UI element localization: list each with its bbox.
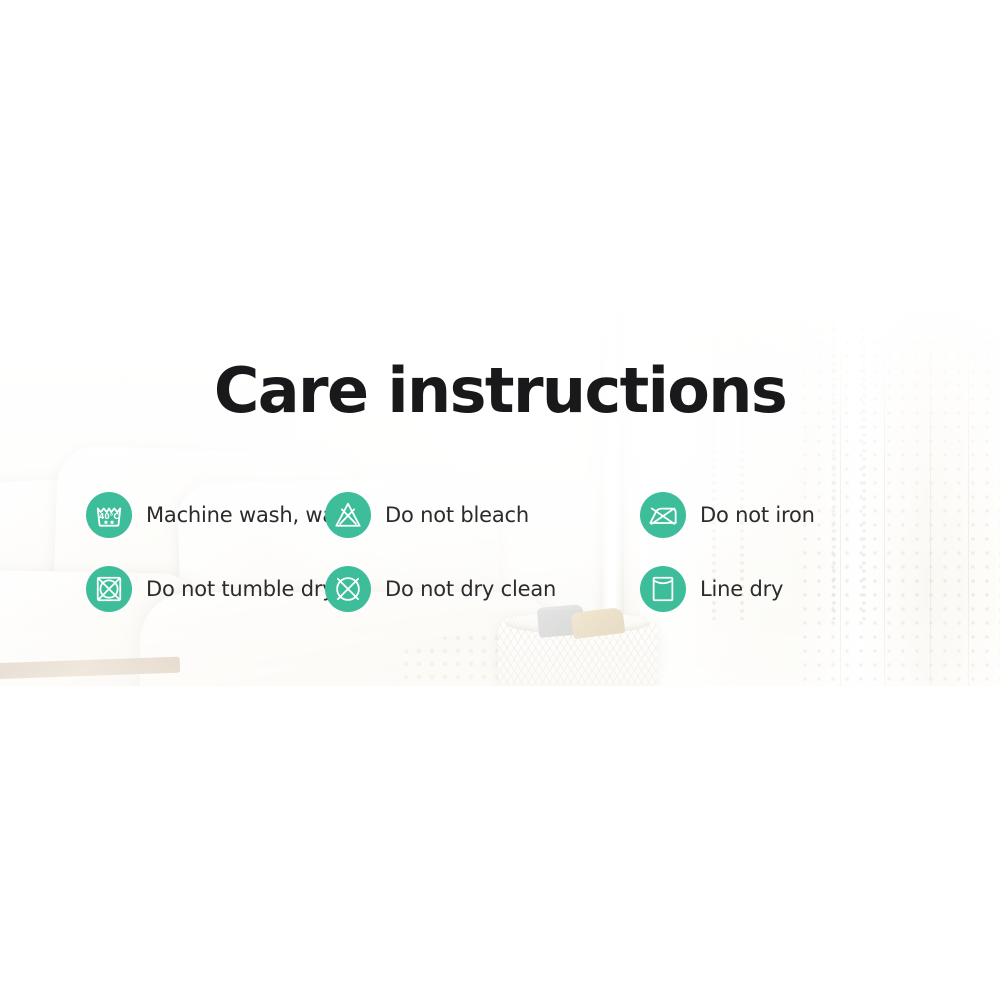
page-title: Care instructions (0, 360, 1000, 422)
care-symbol-label: Line dry (700, 577, 783, 601)
care-symbol-do-not-tumble-dry: Do not tumble dry (0, 566, 320, 612)
machine-wash-warm-icon: 40°C (86, 492, 132, 538)
do-not-dry-clean-icon (325, 566, 371, 612)
care-symbol-machine-wash-warm: 40°C Machine wash, warm (0, 492, 320, 538)
svg-text:40°C: 40°C (99, 512, 119, 521)
care-symbol-label: Do not bleach (385, 503, 529, 527)
do-not-iron-icon (640, 492, 686, 538)
care-symbol-do-not-dry-clean: Do not dry clean (320, 566, 640, 612)
care-symbol-grid: 40°C Machine wash, warm (0, 478, 1000, 626)
care-symbol-label: Do not iron (700, 503, 815, 527)
care-instructions-banner: Care instructions 40°C Machine wash, war… (0, 0, 1000, 1000)
care-symbol-do-not-bleach: Do not bleach (320, 492, 640, 538)
do-not-bleach-icon (325, 492, 371, 538)
care-symbol-label: Do not dry clean (385, 577, 556, 601)
line-dry-icon (640, 566, 686, 612)
care-symbol-line-dry: Line dry (640, 566, 940, 612)
care-symbol-row: Do not tumble dry Do not dry clean (0, 552, 1000, 626)
care-symbol-do-not-iron: Do not iron (640, 492, 940, 538)
care-symbol-row: 40°C Machine wash, warm (0, 478, 1000, 552)
care-symbol-label: Do not tumble dry (146, 577, 335, 601)
do-not-tumble-dry-icon (86, 566, 132, 612)
